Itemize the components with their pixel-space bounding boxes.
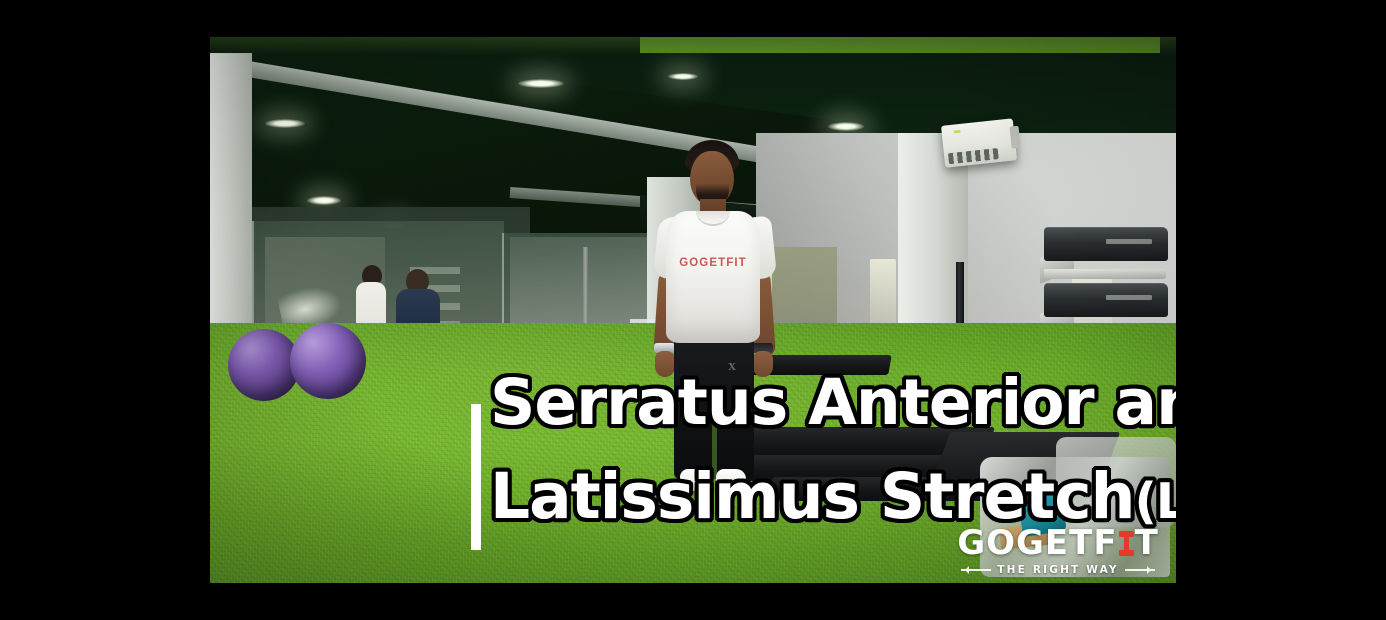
air-conditioner-icon [941,118,1017,167]
ceiling-downlight [518,79,564,88]
screenshot-root: X GOGETFIT Serratus Anterior and Latissi… [0,0,1386,620]
tagline-dash-left-icon [961,569,991,571]
stability-ball [290,323,366,399]
ceiling-downlight [307,196,341,205]
ceiling-downlight [668,73,698,80]
brand-wordmark-part1: GOGETF [957,525,1117,561]
step-platform [1040,227,1168,279]
video-frame[interactable]: X GOGETFIT Serratus Anterior and Latissi… [210,37,1176,583]
ceiling-downlight [828,122,864,131]
brand-tagline-text: THE RIGHT WAY [997,564,1118,576]
ac-vent [948,148,999,164]
dumbbell-icon [1119,528,1134,558]
brand-logo: GOGETF T THE RIGHT WAY [958,525,1158,576]
stability-ball [228,329,300,401]
title-line-1: Serratus Anterior and [471,367,1176,439]
title-side-label: (Left) [1134,473,1176,530]
mirror-reflection [870,259,896,325]
ac-led-indicator [954,130,961,134]
ceiling-downlight [265,119,305,128]
brand-tagline-row: THE RIGHT WAY [958,564,1158,576]
title-overlay: Serratus Anterior and Latissimus Stretch… [471,367,1176,538]
tagline-dash-right-icon [1125,569,1155,571]
turf-shadow-edge [210,37,1176,55]
trainer-shirt [666,211,760,343]
brand-wordmark: GOGETF T [958,525,1158,561]
brand-wordmark-part2: T [1135,525,1159,561]
trainer-shirt-text: GOGETFIT [666,257,760,269]
